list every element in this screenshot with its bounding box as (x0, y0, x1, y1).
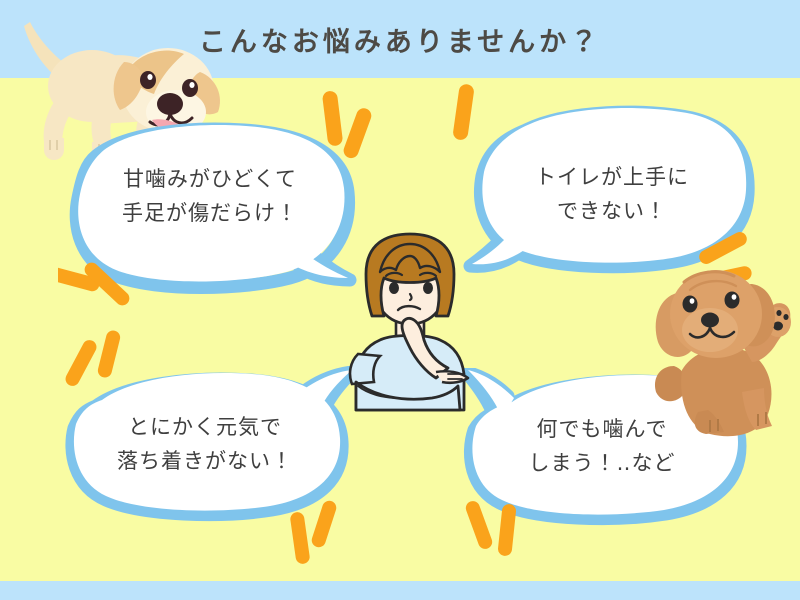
speech-bubble-bottom-left-text: とにかく元気で 落ち着きがない！ (80, 410, 330, 478)
poster-canvas: こんなお悩みありませんか？ (0, 0, 800, 600)
speech-bubble-top-right-text: トイレが上手に できない！ (492, 160, 732, 228)
speech-bubble-top-left-text: 甘噛みがひどくて 手足が傷だらけ！ (80, 162, 340, 230)
speech-bubble-bottom-right-text: 何でも噛んで しまう！‥など (482, 412, 722, 480)
footer-band (0, 581, 800, 600)
page-title: こんなお悩みありませんか？ (0, 0, 800, 78)
content-band (0, 78, 800, 581)
